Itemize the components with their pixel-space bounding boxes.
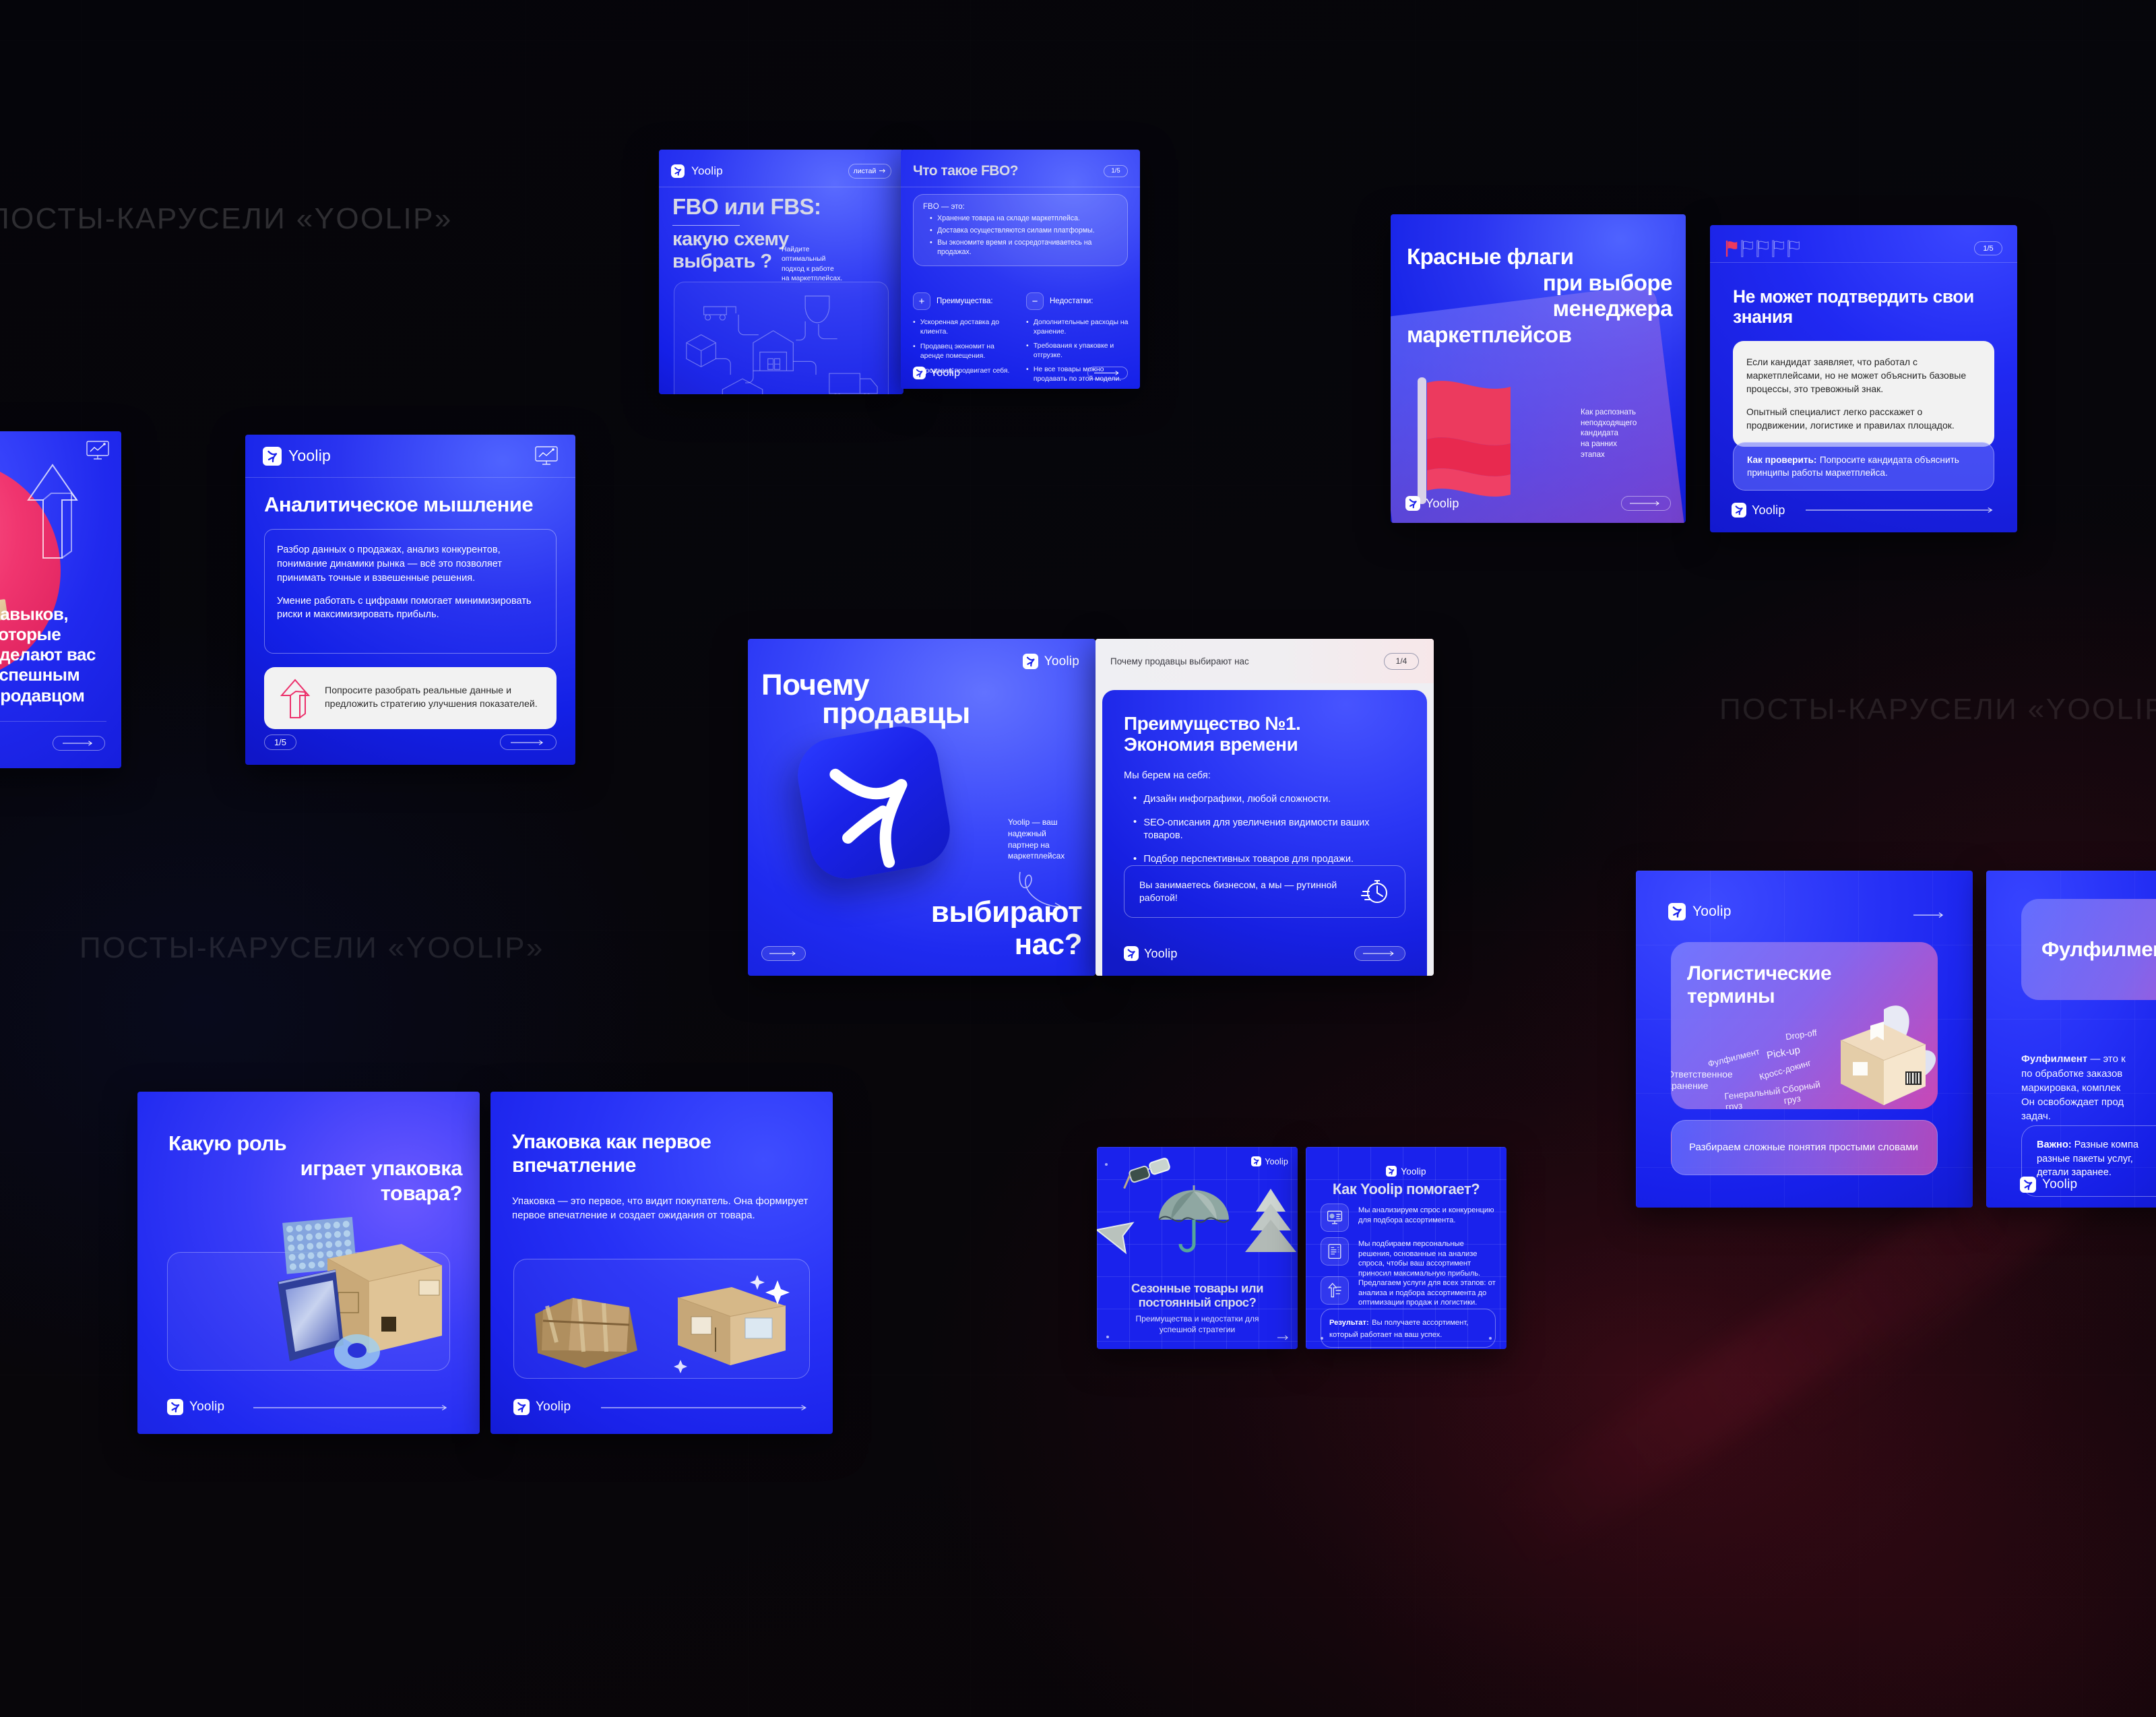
flags-1-check-label: Как проверить: xyxy=(1747,455,1816,465)
arrow-right-icon xyxy=(879,168,886,174)
brand-logo: Yoolip xyxy=(1668,903,1732,920)
season-cover-sub-line2: успешной стратегии xyxy=(1104,1325,1291,1336)
outline-flag-icon xyxy=(1771,240,1786,257)
flags-1-white-panel: Если кандидат заявляет, что работал с ма… xyxy=(1733,341,1994,447)
winged-parcel-icon xyxy=(1819,999,1938,1109)
watermark-right: ПОСТЫ-КАРУСЕЛИ «YOOLIP» xyxy=(1719,693,2156,726)
why-1-title-line1: Преимущество №1. xyxy=(1124,713,1405,734)
log-1-title-panel: Фулфилмент xyxy=(2021,899,2156,1000)
yoolip-logo-icon xyxy=(1732,503,1746,518)
arrow-right-icon xyxy=(601,1404,810,1411)
log-term: Фулфилмент xyxy=(1707,1047,1761,1069)
pack-1-title-line1: Упаковка как первое xyxy=(512,1131,814,1154)
brand-name: Yoolip xyxy=(2042,1177,2077,1192)
why-line1: Почему xyxy=(761,670,869,700)
fbo-title-line1: FBO или FBS: xyxy=(672,195,821,218)
season-1-row-text: Мы анализируем спрос и конкуренцию для п… xyxy=(1358,1204,1496,1232)
outline-flag-icon xyxy=(1787,240,1802,257)
box-comparison-illustration xyxy=(528,1275,798,1375)
pack-cover-line1: Какую роль xyxy=(168,1131,462,1156)
log-cover-line1: Логистические xyxy=(1687,962,1831,985)
list-item: Требования к упаковке и отгрузке. xyxy=(1026,342,1129,360)
log-1-body: Фулфилмент — это к по обработке заказов … xyxy=(2021,1038,2156,1124)
yoolip-logo-icon xyxy=(167,1399,183,1415)
flag-progress-icons xyxy=(1725,240,1802,257)
fbo-what-counter: 1/5 xyxy=(1104,165,1128,177)
arrow-right-icon xyxy=(1630,500,1662,507)
flags-title-line4: маркетплейсов xyxy=(1407,322,1672,348)
why-1-note-text: Вы занимаетесь бизнесом, а мы — рутинной… xyxy=(1139,879,1350,904)
fbo-title-line2: какую схему xyxy=(672,230,789,250)
flags-title-line1: Красные флаги xyxy=(1407,244,1672,270)
brand-logo: Yoolip xyxy=(263,447,331,466)
brand-name: Yoolip xyxy=(1144,947,1178,961)
fbo-title-line3: выбрать ? xyxy=(672,252,772,272)
arrow-right-icon xyxy=(511,739,546,746)
pack-cover-next-button[interactable] xyxy=(253,1402,450,1409)
brand-name: Yoolip xyxy=(288,447,331,465)
pack-1-title: Упаковка как первое впечатление xyxy=(512,1131,814,1177)
brand-name: Yoolip xyxy=(1426,497,1459,511)
season-1-title: Как Yoolip помогает? xyxy=(1306,1182,1507,1197)
yoolip-app-icon-3d xyxy=(803,732,945,873)
flags-1-paragraph-2: Опытный специалист легко расскажет о про… xyxy=(1746,406,1981,433)
arrow-right-icon xyxy=(1094,370,1121,376)
log-cover-next-button[interactable] xyxy=(1913,910,1946,916)
card-season-1[interactable]: Yoolip Как Yoolip помогает? Мы анализиру… xyxy=(1306,1147,1507,1349)
yoolip-logo-icon xyxy=(1386,1166,1397,1177)
brand-name: Yoolip xyxy=(691,164,723,178)
fbo-what-header: Что такое FBO? 1/5 xyxy=(901,155,1140,187)
yoolip-logo-icon xyxy=(1023,654,1038,669)
pack-1-next-button[interactable] xyxy=(601,1402,810,1409)
season-1-row-text: Мы подбираем персональные решения, основ… xyxy=(1358,1237,1496,1278)
pack-cover-title: Какую роль играет упаковка товара? xyxy=(156,1131,462,1206)
why-next-button[interactable] xyxy=(761,946,806,961)
card-skills-cover[interactable]: 6 то именно родавцам учших . навыков, ко… xyxy=(0,431,121,768)
red-flag-icon xyxy=(1397,373,1552,508)
fbo-cons-label: Недостатки: xyxy=(1050,297,1093,305)
arrow-right-icon xyxy=(253,1404,450,1411)
yoolip-logo-icon xyxy=(913,367,926,379)
season-cover-next-button[interactable] xyxy=(1277,1334,1290,1341)
arrow-right-icon xyxy=(63,740,95,747)
why-1-tab-title: Почему продавцы выбирают нас xyxy=(1110,656,1374,666)
arrow-right-icon xyxy=(1806,507,1996,513)
brand-name: Yoolip xyxy=(930,367,960,379)
analytics-header: Yoolip xyxy=(245,435,575,478)
flags-1-counter: 1/5 xyxy=(1974,241,2002,255)
yoolip-logo-icon xyxy=(1405,496,1420,511)
brand-name: Yoolip xyxy=(1044,654,1079,669)
why-line3: выбирают xyxy=(931,897,1082,927)
why-tagline: Yoolip — ваш надежный партнер на маркетп… xyxy=(1008,817,1081,862)
log-1-body-bold: Фулфилмент xyxy=(2021,1053,2087,1065)
brand-logo: Yoolip xyxy=(913,367,960,379)
brand-logo: Yoolip xyxy=(671,164,723,178)
analytics-next-button[interactable] xyxy=(500,735,557,750)
log-1-note-label: Важно: xyxy=(2037,1140,2072,1150)
why-1-next-button[interactable] xyxy=(1354,946,1405,961)
yoolip-logo-icon xyxy=(1124,946,1139,961)
presentation-chart-icon xyxy=(1321,1204,1349,1232)
analytics-tip-text: Попросите разобрать реальные данные и пр… xyxy=(325,685,543,712)
skills-headline: навыков, которые сделают вас успешным пр… xyxy=(0,604,121,706)
brand-name: Yoolip xyxy=(1401,1166,1426,1177)
minus-icon: − xyxy=(1026,292,1044,310)
list-item: Доставка осуществляются силами платформы… xyxy=(930,226,1118,236)
analytics-title: Аналитическое мышление xyxy=(264,494,561,516)
log-term: Кросс-докинг xyxy=(1758,1057,1812,1082)
pack-cover-line3: товара? xyxy=(156,1181,462,1206)
pink-up-arrow-icon xyxy=(278,677,313,719)
card-analytics[interactable]: Yoolip Аналитическое мышление Разбор дан… xyxy=(245,435,575,765)
growth-arrow-icon xyxy=(1321,1276,1349,1305)
watermark-mid-left: ПОСТЫ-КАРУСЕЛИ «YOOLIP» xyxy=(80,931,544,965)
chart-monitor-icon xyxy=(86,441,109,461)
log-term: Pick-up xyxy=(1766,1044,1801,1061)
fbo-swipe-button[interactable]: листай xyxy=(848,164,891,179)
log-term: Ответственное хранение xyxy=(1671,1069,1754,1092)
chart-monitor-icon xyxy=(535,446,558,466)
yoolip-logo-icon xyxy=(513,1399,530,1415)
flags-1-header: 1/5 xyxy=(1710,235,2017,263)
fbo-pros-label: Преимущества: xyxy=(937,297,993,305)
why-1-bullets: Дизайн инфографики, любой сложности. SEO… xyxy=(1133,793,1405,867)
fbo-intro-panel: FBO — это: Хранение товара на складе мар… xyxy=(913,194,1128,266)
analytics-counter: 1/5 xyxy=(264,735,296,750)
list-item: Дополнительные расходы на хранение. xyxy=(1026,318,1129,336)
flags-subtext: Как распознать неподходящего кандидата н… xyxy=(1581,407,1668,460)
arrow-right-icon xyxy=(1363,950,1397,957)
season-1-row-text: Предлагаем услуги для всех этапов: от ан… xyxy=(1358,1276,1496,1308)
flags-1-title: Не может подтвердить свои знания xyxy=(1733,287,1994,327)
outline-flag-icon xyxy=(1740,240,1755,257)
log-term: Drop-off xyxy=(1785,1028,1817,1042)
watermark-top-left: ПОСТЫ-КАРУСЕЛИ «YOOLIP» xyxy=(0,202,453,236)
analytics-text-panel: Разбор данных о продажах, анализ конкуре… xyxy=(264,529,557,654)
arrow-right-icon xyxy=(769,950,798,957)
card-fbo-what[interactable]: Что такое FBO? 1/5 FBO — это: Хранение т… xyxy=(901,150,1140,389)
skills-divider xyxy=(0,721,106,722)
analytics-tip-panel: Попросите разобрать реальные данные и пр… xyxy=(264,667,557,729)
fbo-intro-list: Хранение товара на складе маркетплейса. … xyxy=(923,214,1118,257)
card-why-1[interactable]: Почему продавцы выбирают нас 1/4 Преимущ… xyxy=(1096,639,1434,976)
flags-title-line2: при выборе xyxy=(1407,270,1672,296)
season-cover-sub-line1: Преимущества и недостатки для xyxy=(1104,1314,1291,1325)
flags-1-paragraph-1: Если кандидат заявляет, что работал с ма… xyxy=(1746,356,1981,396)
why-1-lead: Мы берем на себя: xyxy=(1124,770,1405,781)
fbo-what-title: Что такое FBO? xyxy=(913,164,1018,179)
brand-logo: Yoolip xyxy=(1306,1166,1507,1177)
card-log-cover[interactable]: Yoolip Логистические термины Drop-off Pi… xyxy=(1636,871,1973,1208)
fbo-intro-label: FBO — это: xyxy=(923,203,1118,211)
season-cover-title: Сезонные товары или постоянный спрос? xyxy=(1102,1282,1292,1309)
yoolip-logo-icon xyxy=(2020,1177,2036,1193)
flags-1-check-panel: Как проверить: Попросите кандидата объяс… xyxy=(1733,442,1994,491)
log-cover-caption-panel: Разбираем сложные понятия простыми слова… xyxy=(1671,1120,1938,1175)
analytics-paragraph-2: Умение работать с цифрами помогает миним… xyxy=(277,594,544,623)
background-streak-1 xyxy=(1478,1172,2025,1578)
brand-logo: Yoolip xyxy=(1405,496,1459,511)
season-1-result-panel: Результат: Вы получаете ассортимент, кот… xyxy=(1321,1309,1496,1348)
season-1-row: Мы анализируем спрос и конкуренцию для п… xyxy=(1321,1204,1496,1232)
log-cover-title: Логистические термины xyxy=(1687,962,1831,1007)
pack-cover-line2: играет упаковка xyxy=(156,1156,462,1181)
fbo-subtext: Найдите оптимальный подход к работе на м… xyxy=(782,245,896,284)
log-cover-hero-panel: Логистические термины Drop-off Pick-up Ф… xyxy=(1671,942,1938,1109)
season-1-result-label: Результат: xyxy=(1329,1319,1369,1327)
brand-logo: Yoolip xyxy=(2020,1177,2077,1193)
list-item: Дизайн инфографики, любой сложности. xyxy=(1133,793,1405,807)
pack-1-title-line2: впечатление xyxy=(512,1154,814,1178)
up-arrow-3d-icon xyxy=(19,458,86,559)
why-1-title: Преимущество №1. Экономия времени xyxy=(1124,713,1405,755)
brand-name: Yoolip xyxy=(1752,503,1785,518)
brand-name: Yoolip xyxy=(189,1400,224,1414)
card-log-1[interactable]: Фулфилмент Фулфилмент — это к по обработ… xyxy=(1986,871,2156,1208)
list-item: Хранение товара на складе маркетплейса. xyxy=(930,214,1118,224)
brand-logo: Yoolip xyxy=(1124,946,1178,961)
why-1-inner-card: Преимущество №1. Экономия времени Мы бер… xyxy=(1102,690,1427,976)
skills-next-button[interactable] xyxy=(53,736,105,751)
log-cover-caption: Разбираем сложные понятия простыми слова… xyxy=(1689,1141,1918,1154)
season-cover-dot xyxy=(1106,1336,1109,1338)
flags-title-line3: менеджера xyxy=(1407,296,1672,322)
arrow-right-icon xyxy=(1913,912,1946,918)
card-pack-cover[interactable]: Какую роль играет упаковка товара? xyxy=(137,1092,480,1434)
list-item: Вы экономите время и сосредотачиваетесь … xyxy=(930,239,1118,257)
card-flags-1[interactable]: 1/5 Не может подтвердить свои знания Есл… xyxy=(1710,225,2017,532)
brand-name: Yoolip xyxy=(536,1400,571,1414)
why-line4: нас? xyxy=(1015,929,1082,960)
fbo-swipe-label: листай xyxy=(854,167,877,175)
outline-flag-icon xyxy=(1756,240,1771,257)
season-cover-line1: Сезонные товары или xyxy=(1102,1282,1292,1296)
brand-logo: Yoolip xyxy=(1023,654,1079,669)
card-flags-cover[interactable]: Красные флаги при выборе менеджера марке… xyxy=(1391,214,1686,523)
yoolip-logo-icon xyxy=(671,164,685,178)
brand-logo: Yoolip xyxy=(513,1399,571,1415)
red-flag-icon xyxy=(1725,240,1740,257)
brand-name: Yoolip xyxy=(1692,904,1732,920)
why-1-title-line2: Экономия времени xyxy=(1124,734,1405,755)
card-season-cover[interactable]: Yoolip xyxy=(1097,1147,1298,1349)
list-item: Ускоренная доставка до клиента. xyxy=(913,318,1014,336)
packaging-illustration xyxy=(225,1217,447,1379)
yoolip-logo-icon xyxy=(263,447,282,466)
log-1-title: Фулфилмент xyxy=(2041,939,2156,960)
why-1-note-panel: Вы занимаетесь бизнесом, а мы — рутинной… xyxy=(1124,865,1405,918)
fbo-what-next-button[interactable] xyxy=(1087,367,1128,379)
why-1-counter: 1/4 xyxy=(1384,653,1419,670)
season-1-row: Мы подбираем персональные решения, основ… xyxy=(1321,1237,1496,1278)
season-cover-line2: постоянный спрос? xyxy=(1102,1296,1292,1310)
card-pack-1[interactable]: Упаковка как первое впечатление Упаковка… xyxy=(490,1092,833,1434)
season-1-dot-left xyxy=(1321,1337,1323,1340)
fbo-cover-header: Yoolip листай xyxy=(659,155,903,187)
card-fbo-cover[interactable]: Yoolip листай FBO или FBS: какую схему в… xyxy=(659,150,903,394)
card-why-cover[interactable]: Yoolip Почему продавцы Yoolip — ваш наде… xyxy=(748,639,1096,976)
list-item: SEO-описания для увеличения видимости ва… xyxy=(1133,817,1405,844)
fbo-logistics-diagram xyxy=(674,282,889,394)
stopwatch-icon xyxy=(1360,877,1390,906)
flags-1-next-button[interactable] xyxy=(1806,505,1996,511)
brand-logo: Yoolip xyxy=(167,1399,224,1415)
flags-title: Красные флаги при выборе менеджера марке… xyxy=(1407,244,1672,348)
plus-icon: + xyxy=(913,292,930,310)
season-objects-illustration xyxy=(1097,1155,1298,1283)
season-1-dot-right xyxy=(1489,1337,1492,1340)
yoolip-logo-icon xyxy=(1668,903,1686,920)
why-1-browser-bar: Почему продавцы выбирают нас 1/4 xyxy=(1096,639,1434,683)
document-list-icon xyxy=(1321,1237,1349,1266)
pack-1-body: Упаковка — это первое, что видит покупат… xyxy=(512,1194,814,1223)
fbo-pros-block: + Преимущества: Ускоренная доставка до к… xyxy=(913,292,1014,376)
season-cover-sub: Преимущества и недостатки для успешной с… xyxy=(1104,1314,1291,1335)
why-line2: продавцы xyxy=(822,698,970,728)
log-cover-line2: термины xyxy=(1687,985,1831,1008)
portfolio-board: ПОСТЫ-КАРУСЕЛИ «YOOLIP» ПОСТЫ-КАРУСЕЛИ «… xyxy=(0,0,2156,1717)
season-1-row: Предлагаем услуги для всех этапов: от ан… xyxy=(1321,1276,1496,1308)
analytics-paragraph-1: Разбор данных о продажах, анализ конкуре… xyxy=(277,543,544,586)
fbo-title-divider xyxy=(672,225,740,226)
flags-next-button[interactable] xyxy=(1621,496,1671,511)
brand-logo: Yoolip xyxy=(1732,503,1785,518)
list-item: Продавец экономит на аренде помещения. xyxy=(913,342,1014,361)
